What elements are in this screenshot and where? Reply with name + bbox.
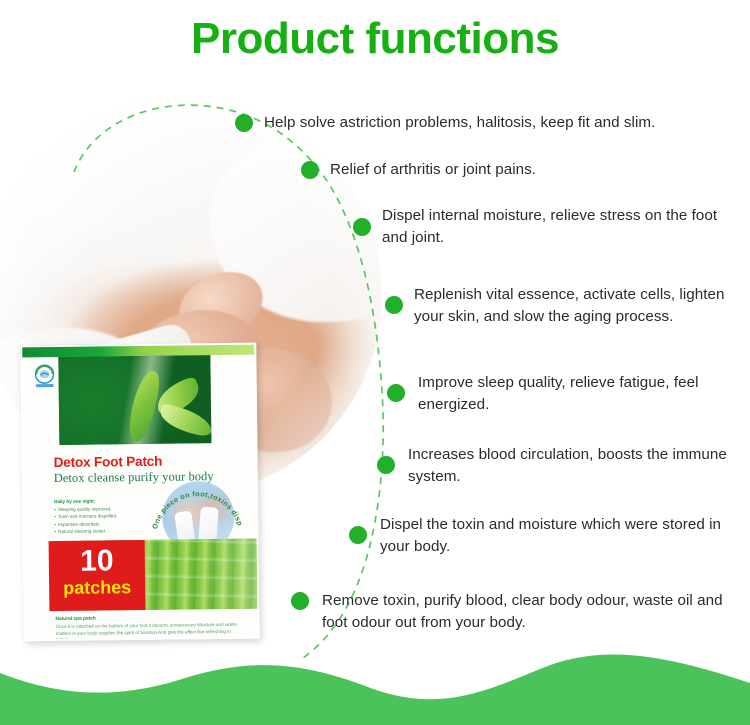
function-item-8: Remove toxin, purify blood, clear body o… <box>322 590 736 633</box>
bullet-dot-7 <box>349 526 367 544</box>
box-product-title: Detox Foot Patch <box>54 454 163 470</box>
product-package-box: Detox Foot Patch Detox cleanse purify yo… <box>20 343 260 642</box>
brand-logo-icon <box>30 363 58 391</box>
bullet-dot-4 <box>385 296 403 314</box>
box-daily-benefits-list: Sleeping quality improved. Toxin and moi… <box>54 505 150 536</box>
function-item-6: Increases blood circulation, boosts the … <box>408 444 738 487</box>
function-item-2: Relief of arthritis or joint pains. <box>330 159 744 181</box>
box-curved-tagline-text: One piece on foot,toxins dispelled <box>150 469 245 531</box>
green-wave-footer <box>0 639 750 725</box>
box-daily-heading: Daily by one night: <box>54 499 95 505</box>
bullet-dot-8 <box>291 592 309 610</box>
function-item-4: Replenish vital essence, activate cells,… <box>414 284 738 327</box>
bullet-dot-6 <box>377 456 395 474</box>
page-title: Product functions <box>0 10 750 68</box>
box-footer-heading: Natural spa patch <box>56 617 96 622</box>
bullet-dot-5 <box>387 384 405 402</box>
box-hero-bamboo-art <box>58 355 211 445</box>
function-item-1: Help solve astriction problems, halitosi… <box>264 112 744 134</box>
bamboo-leaf-graphic-2 <box>157 403 215 438</box>
function-item-7: Dispel the toxin and moisture which were… <box>380 514 738 557</box>
function-item-3: Dispel internal moisture, relieve stress… <box>382 205 722 248</box>
box-patch-count-unit: patches <box>49 577 145 598</box>
box-quantity-banner: 10 patches <box>49 540 146 611</box>
box-patch-count: 10 <box>49 545 145 578</box>
product-functions-poster: Product functions Help solve astriction … <box>0 0 750 725</box>
function-item-5: Improve sleep quality, relieve fatigue, … <box>418 372 738 415</box>
box-daily-item: Natural cleaning suited. <box>54 527 150 536</box>
